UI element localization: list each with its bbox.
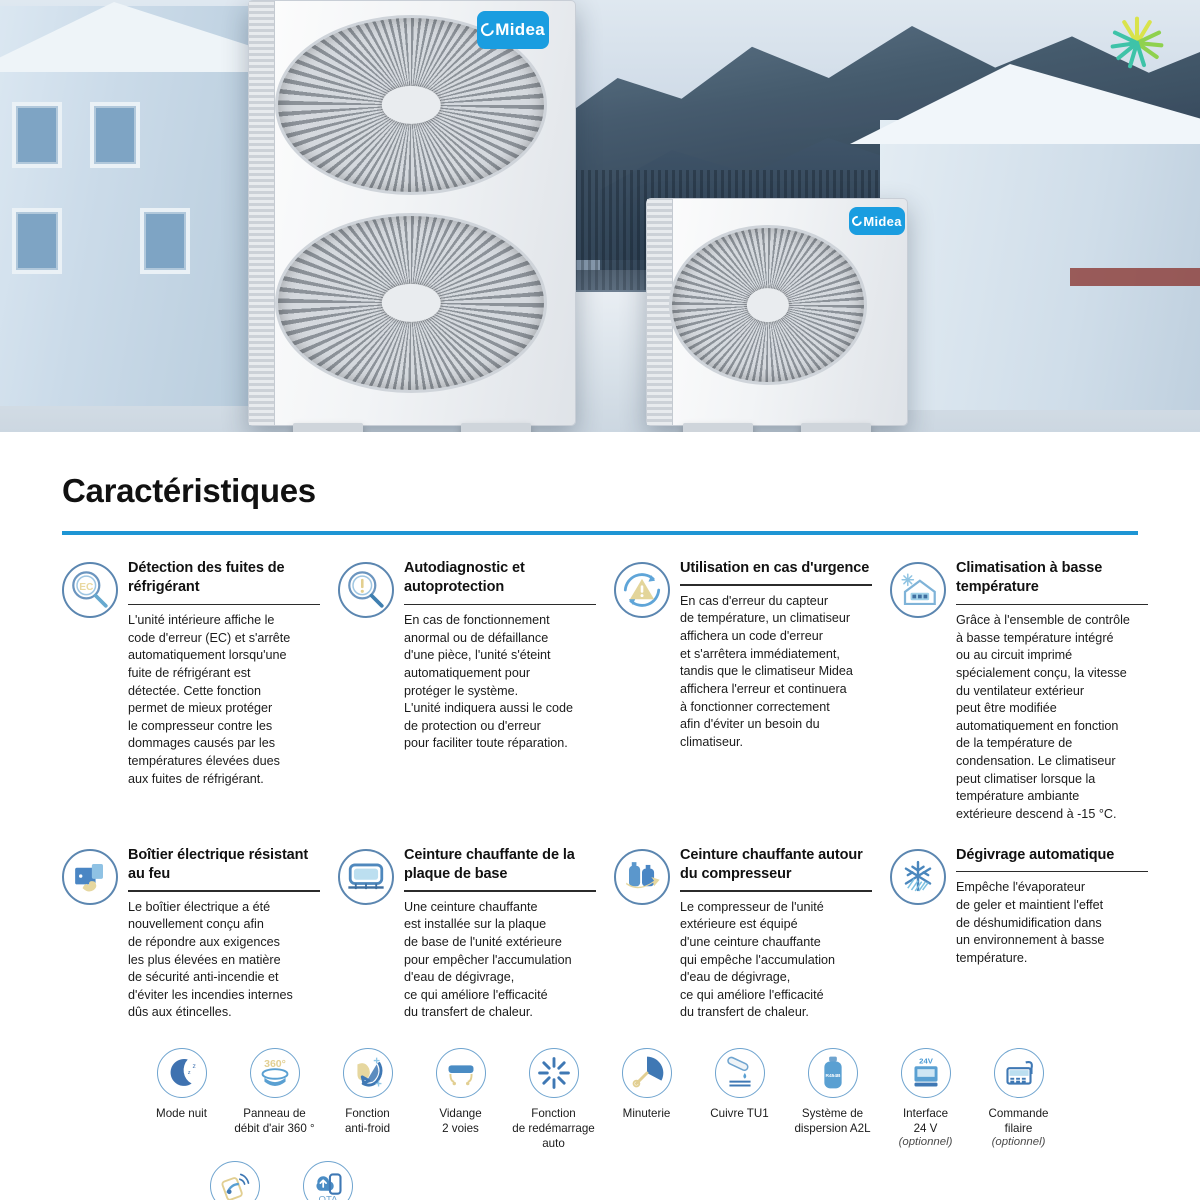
feature-title: Utilisation en cas d'urgence (680, 559, 872, 578)
midea-logo-large: Midea (477, 11, 549, 49)
360-airflow-panel-icon: 360° (250, 1048, 300, 1098)
chip-commande-wifi: Commande Wi-Fi (optionnel) (188, 1161, 281, 1200)
midea-logo-text: Midea (495, 20, 545, 40)
section-divider (62, 531, 1138, 535)
feature-body: Le boîtier électrique a été nouvellement… (128, 899, 320, 1022)
copper-tu1-icon (715, 1048, 765, 1098)
window (90, 102, 140, 168)
unit-foot (293, 423, 363, 432)
features-section: Caractéristiques EC Détection des fuites… (0, 472, 1200, 1200)
anti-cold-air-icon (343, 1048, 393, 1098)
chip-optional-note: (optionnel) (972, 1136, 1065, 1148)
red-accent-band (1070, 268, 1200, 286)
chip-label: Mode nuit (135, 1106, 228, 1121)
midea-logo-small: Midea (849, 207, 905, 235)
auto-defrost-snowflake-icon (890, 849, 946, 905)
feature-title-rule (956, 604, 1148, 606)
chip-label: Fonction anti-froid (321, 1106, 414, 1136)
chip-label: Commande filaire (972, 1106, 1065, 1136)
emergency-warning-cycle-icon (614, 562, 670, 618)
chip-label: Panneau de débit d'air 360 ° (228, 1106, 321, 1136)
midea-logo-mark (478, 21, 496, 39)
chip-mode-nuit: z z Mode nuit (135, 1048, 228, 1151)
feature-title-rule (128, 890, 320, 892)
feature-item: Ceinture chauffante de la plaque de base… (338, 846, 614, 1022)
feature-body: Une ceinture chauffante est installée su… (404, 899, 596, 1022)
chip-dispersion-a2l: R454B Système de dispersion A2L (786, 1048, 879, 1151)
auto-restart-icon (529, 1048, 579, 1098)
feature-text: Autodiagnostic et autoprotection En cas … (404, 559, 596, 824)
chip-minuterie: Minuterie (600, 1048, 693, 1151)
house-snowflake-icon (890, 562, 946, 618)
feature-body: Empêche l'évaporateur de geler et mainti… (956, 879, 1148, 967)
feature-text: Utilisation en cas d'urgence En cas d'er… (680, 559, 872, 824)
compressor-heating-belt-icon (614, 849, 670, 905)
feature-title-rule (956, 871, 1148, 873)
starburst-logo-icon (1108, 14, 1166, 72)
feature-item: EC Détection des fuites de réfrigérant L… (62, 559, 338, 824)
feature-text: Ceinture chauffante autour du compresseu… (680, 846, 872, 1022)
feature-text: Boîtier électrique résistant au feu Le b… (128, 846, 320, 1022)
self-diagnostic-magnifier-icon (338, 562, 394, 618)
feature-title-rule (404, 604, 596, 606)
feature-title: Climatisation à basse température (956, 559, 1148, 598)
night-mode-moon-icon: z z (157, 1048, 207, 1098)
ota-badge: OTA (318, 1195, 338, 1200)
two-way-drainage-icon (436, 1048, 486, 1098)
feature-body: Le compresseur de l'unité extérieure est… (680, 899, 872, 1022)
chip-anti-froid: Fonction anti-froid (321, 1048, 414, 1151)
timer-icon (622, 1048, 672, 1098)
fan-grille (275, 213, 547, 393)
feature-grid-row-1: EC Détection des fuites de réfrigérant L… (62, 559, 1138, 824)
chip-label: Interface 24 V (879, 1106, 972, 1136)
interface-badge: 24V (919, 1056, 934, 1065)
feature-body: En cas d'erreur du capteur de températur… (680, 593, 872, 752)
feature-title-rule (404, 890, 596, 892)
chip-label: Fonction de redémarrage auto (507, 1106, 600, 1151)
window (12, 208, 62, 274)
svg-text:z: z (192, 1063, 196, 1070)
chip-interface-24v: 24V Interface 24 V (optionnel) (879, 1048, 972, 1151)
chip-redemarrage-auto: Fonction de redémarrage auto (507, 1048, 600, 1151)
feature-text: Dégivrage automatique Empêche l'évaporat… (956, 846, 1148, 1022)
feature-item: Climatisation à basse température Grâce … (890, 559, 1166, 824)
window (140, 208, 190, 274)
side-vent (249, 1, 275, 425)
chip-label: Minuterie (600, 1106, 693, 1121)
cylinder-badge: R454B (825, 1073, 840, 1079)
feature-item: Boîtier électrique résistant au feu Le b… (62, 846, 338, 1022)
ota-update-icon: OTA (303, 1161, 353, 1200)
outdoor-unit-large: Midea (248, 0, 576, 426)
unit-foot (683, 423, 753, 432)
house-left (0, 6, 255, 406)
svg-text:z: z (187, 1070, 190, 1076)
24v-interface-icon: 24V (901, 1048, 951, 1098)
chip-optional-note: (optionnel) (879, 1136, 972, 1148)
midea-logo-text: Midea (863, 214, 901, 229)
chip-panneau-360: 360° Panneau de débit d'air 360 ° (228, 1048, 321, 1151)
chip-label: Système de dispersion A2L (786, 1106, 879, 1136)
feature-item: Utilisation en cas d'urgence En cas d'er… (614, 559, 890, 824)
feature-chip-strip-row-1: z z Mode nuit 360° Panneau de débit d'ai… (62, 1048, 1138, 1151)
feature-item: Dégivrage automatique Empêche l'évaporat… (890, 846, 1166, 1022)
window (12, 102, 62, 168)
base-plate-heating-belt-icon (338, 849, 394, 905)
chip-vidange-2-voies: Vidange 2 voies (414, 1048, 507, 1151)
feature-body: Grâce à l'ensemble de contrôle à basse t… (956, 612, 1148, 824)
page-title: Caractéristiques (62, 472, 1138, 510)
midea-logo-mark (850, 214, 864, 228)
feature-title: Dégivrage automatique (956, 846, 1148, 865)
svg-text:EC: EC (79, 582, 94, 593)
feature-chip-strip-row-2: Commande Wi-Fi (optionnel) OTA OTA (opti… (62, 1161, 1138, 1200)
outdoor-unit-small: Midea (646, 198, 908, 426)
refrigerant-leak-magnifier-icon: EC (62, 562, 118, 618)
feature-title: Ceinture chauffante autour du compresseu… (680, 846, 872, 885)
feature-title: Détection des fuites de réfrigérant (128, 559, 320, 598)
feature-text: Ceinture chauffante de la plaque de base… (404, 846, 596, 1022)
feature-grid-row-2: Boîtier électrique résistant au feu Le b… (62, 846, 1138, 1022)
feature-item: Ceinture chauffante autour du compresseu… (614, 846, 890, 1022)
feature-item: Autodiagnostic et autoprotection En cas … (338, 559, 614, 824)
chip-cuivre-tu1: Cuivre TU1 (693, 1048, 786, 1151)
feature-body: En cas de fonctionnement anormal ou de d… (404, 612, 596, 753)
chip-label: Cuivre TU1 (693, 1106, 786, 1121)
house-right (880, 120, 1200, 410)
hero-banner: Midea Midea (0, 0, 1200, 432)
fireproof-electrical-box-icon (62, 849, 118, 905)
chip-ota: OTA OTA (optionnel) (281, 1161, 374, 1200)
feature-body: L'unité intérieure affiche le code d'err… (128, 612, 320, 788)
wifi-controller-icon (210, 1161, 260, 1200)
chip-label: Vidange 2 voies (414, 1106, 507, 1136)
chip-commande-filaire: Commande filaire (optionnel) (972, 1048, 1065, 1151)
unit-foot (801, 423, 871, 432)
feature-title-rule (128, 604, 320, 606)
feature-title: Autodiagnostic et autoprotection (404, 559, 596, 598)
feature-title: Boîtier électrique résistant au feu (128, 846, 320, 885)
fan-grille (669, 225, 867, 385)
feature-text: Détection des fuites de réfrigérant L'un… (128, 559, 320, 824)
house-left-roof (0, 2, 270, 72)
a2l-dispersion-cylinder-icon: R454B (808, 1048, 858, 1098)
feature-title-rule (680, 584, 872, 586)
feature-text: Climatisation à basse température Grâce … (956, 559, 1148, 824)
wired-controller-icon (994, 1048, 1044, 1098)
feature-title-rule (680, 890, 872, 892)
unit-foot (461, 423, 531, 432)
feature-title: Ceinture chauffante de la plaque de base (404, 846, 596, 885)
